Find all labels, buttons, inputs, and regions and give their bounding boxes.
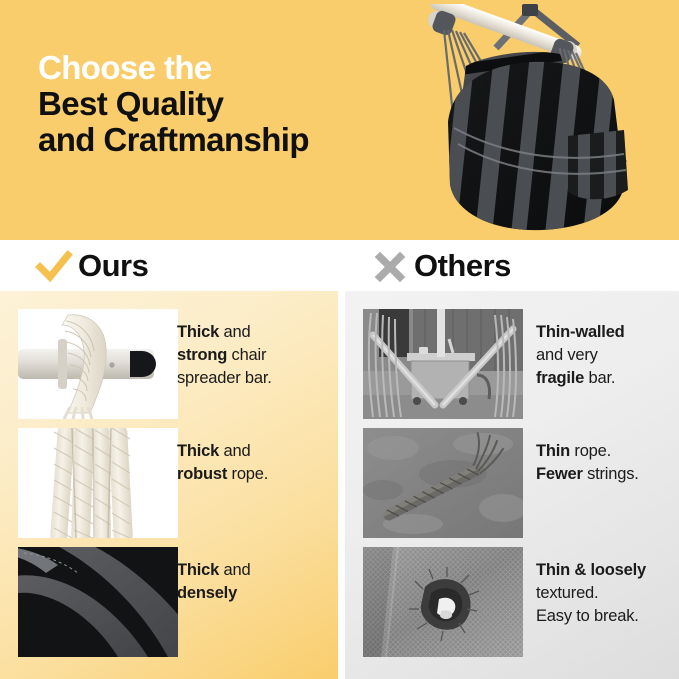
others-caption-1-bold-1: Thin-walled (536, 323, 625, 341)
label-ours-text: Ours (78, 250, 148, 281)
check-icon (34, 246, 74, 286)
comparison-label-row: Ours Others (0, 240, 679, 291)
others-caption-2-t1: rope. (570, 442, 611, 460)
ours-panel: Thick and strong chair spreader bar. (0, 291, 338, 679)
ours-caption-1-t3: spreader bar. (177, 369, 272, 387)
label-others-text: Others (414, 250, 511, 281)
ours-caption-3-t1: and (219, 561, 250, 579)
others-image-fragile-bar (363, 309, 523, 419)
ours-caption-2-bold-2: robust (177, 465, 227, 483)
ours-row-1: Thick and strong chair spreader bar. (0, 309, 338, 429)
ours-caption-3-bold-2: densely (177, 584, 237, 602)
ours-caption-2-bold-1: Thick (177, 442, 219, 460)
others-caption-3-t1: textured. (536, 584, 598, 602)
product-photo-hanging-chair (392, 4, 679, 240)
others-caption-2-bold-2: Fewer (536, 465, 583, 483)
ours-caption-1-t2: chair (227, 346, 266, 364)
others-row-2: Thin rope. Fewer strings. (345, 428, 679, 548)
others-caption-2-t2: strings. (583, 465, 639, 483)
headline-line-2: Best Quality (38, 86, 438, 122)
others-row-1: Thin-walled and very fragile bar. (345, 309, 679, 429)
others-caption-1-t2: bar. (584, 369, 615, 387)
hero-banner: Choose the Best Quality and Craftmanship (0, 0, 679, 240)
others-row-3: Thin & loosely textured. Easy to break. (345, 547, 679, 667)
ours-row-2: Thick and robust rope. (0, 428, 338, 548)
ours-caption-2-t1: and (219, 442, 250, 460)
ours-image-thick-rope (18, 428, 178, 538)
others-image-torn-fabric (363, 547, 523, 657)
others-caption-1: Thin-walled and very fragile bar. (536, 321, 679, 390)
ours-caption-1-bold-2: strong (177, 346, 227, 364)
headline-line-3: and Craftmanship (38, 122, 438, 158)
others-caption-3: Thin & loosely textured. Easy to break. (536, 559, 679, 628)
label-others: Others (370, 240, 511, 291)
headline-line-1: Choose the (38, 50, 438, 86)
ours-caption-3-bold-1: Thick (177, 561, 219, 579)
ours-row-3: Thick and densely (0, 547, 338, 667)
ours-image-spreader-bar (18, 309, 178, 419)
ours-caption-1-bold-1: Thick (177, 323, 219, 341)
others-caption-3-bold-1: Thin & loosely (536, 561, 646, 579)
ours-image-dense-fabric (18, 547, 178, 657)
ours-caption-1-t1: and (219, 323, 250, 341)
hero-headline: Choose the Best Quality and Craftmanship (38, 50, 438, 158)
ours-caption-1: Thick and strong chair spreader bar. (177, 321, 332, 390)
others-caption-2: Thin rope. Fewer strings. (536, 440, 679, 486)
ours-caption-2-t2: rope. (227, 465, 268, 483)
ours-caption-2: Thick and robust rope. (177, 440, 332, 486)
others-panel: Thin-walled and very fragile bar. (345, 291, 679, 679)
x-icon (370, 246, 410, 286)
label-ours: Ours (34, 240, 148, 291)
others-caption-2-bold-1: Thin (536, 442, 570, 460)
others-image-thin-rope (363, 428, 523, 538)
comparison-infographic: Choose the Best Quality and Craftmanship (0, 0, 679, 679)
others-caption-3-t2: Easy to break. (536, 607, 639, 625)
others-caption-1-bold-2: fragile (536, 369, 584, 387)
others-caption-1-t1: and very (536, 346, 598, 364)
ours-caption-3: Thick and densely (177, 559, 332, 605)
